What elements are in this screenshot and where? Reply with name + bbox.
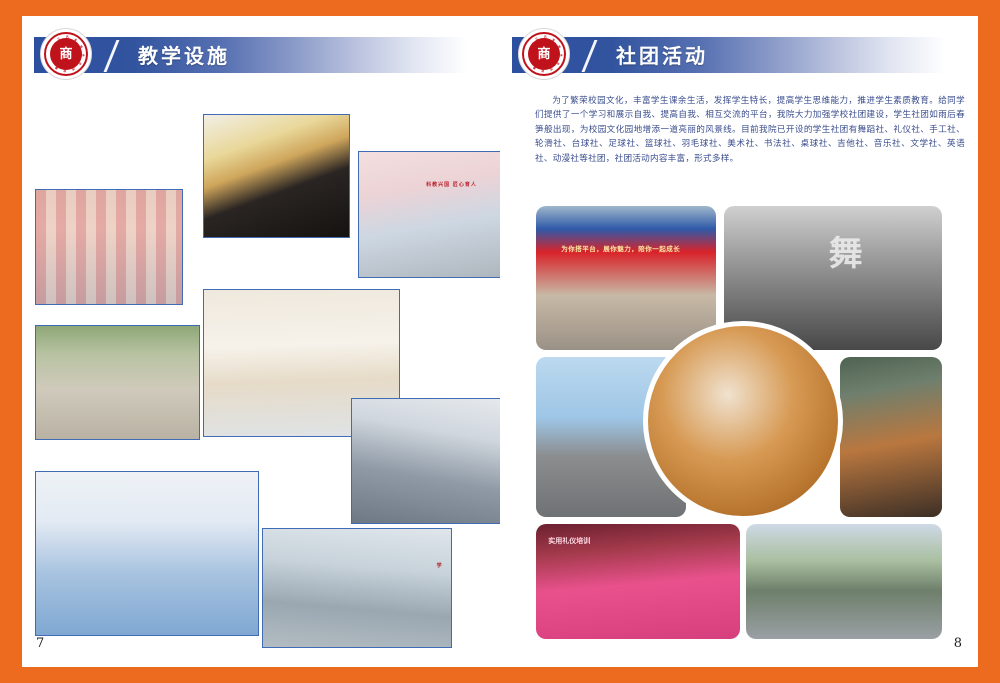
photo-computer-lab: [351, 398, 500, 524]
right-page: 社团活动 商 江西省商务学校校徽 为了繁荣校园文化，丰富学生课余生活，发挥学生特…: [500, 16, 978, 667]
right-page-number: 8: [954, 636, 962, 651]
club-activities-paragraph: 为了繁荣校园文化，丰富学生课余生活，发挥学生特长，提高学生思维能力，推进学生素质…: [535, 94, 965, 166]
school-emblem-left: 商 江西省商务学校校徽: [40, 28, 92, 80]
left-header-band: 教学设施: [34, 37, 486, 73]
photo-cycling-club: [746, 524, 942, 639]
left-page: 教学设施 商 江西省商务学校校徽 科教兴国 匠心育人 学 7: [22, 16, 500, 667]
photo-etiquette-club: 实用礼仪培训: [536, 524, 740, 639]
dance-club-banner-text: 舞: [829, 226, 863, 275]
right-page-title: 社团活动: [616, 40, 708, 69]
photo-dance-studio: [35, 471, 259, 636]
photo-industrial-robot-lab: 科教兴国 匠心育人: [358, 151, 500, 278]
left-page-title: 教学设施: [138, 40, 230, 69]
emblem-glyph-right: 商: [532, 42, 556, 66]
photo-basketball-club: [643, 321, 843, 521]
photo-surveying-training: [35, 325, 200, 440]
photo-nursing-practice-room: [35, 189, 183, 305]
school-emblem-right: 商 江西省商务学校校徽: [518, 28, 570, 80]
emblem-glyph: 商: [54, 42, 78, 66]
etiquette-banner-text: 实用礼仪培训: [548, 536, 590, 546]
workshop-banner-text: 学: [437, 562, 442, 569]
recruitment-banner-text: 为你搭平台，展你魅力，陪你一起成长: [561, 243, 712, 253]
header-slash-divider: [104, 40, 120, 72]
photo-piano-practice-room: [203, 114, 350, 238]
left-page-number: 7: [36, 636, 44, 651]
photo-club-recruitment-booth: 为你搭平台，展你魅力，陪你一起成长: [536, 206, 716, 350]
robot-lab-banner-text: 科教兴国 匠心育人: [426, 181, 477, 188]
photo-guitar-music-club: [840, 357, 942, 517]
brochure-spread: 教学设施 商 江西省商务学校校徽 科教兴国 匠心育人 学 7 社团活动: [22, 16, 978, 667]
header-slash-divider-right: [582, 40, 598, 72]
right-header-band: 社团活动: [512, 37, 964, 73]
photo-electrical-workshop: 学: [262, 528, 452, 648]
